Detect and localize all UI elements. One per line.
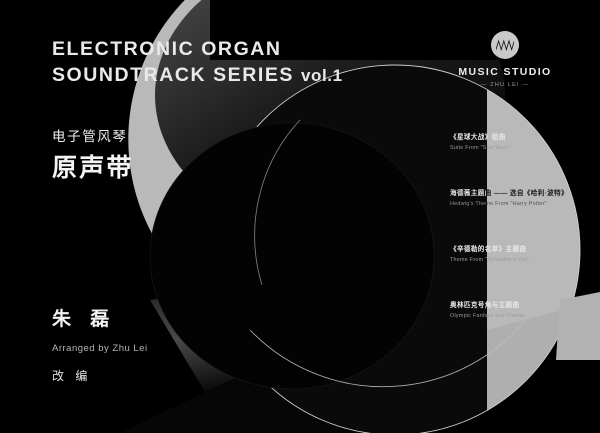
studio-subtitle: — ZHU LEI — [455, 80, 555, 90]
track-title-en: Theme From "Schindler's List" [450, 256, 600, 265]
track-item: 《辛德勒的名单》主题曲 Theme From "Schindler's List… [450, 245, 600, 265]
track-title-cn: 奥林匹克号角与主题曲 [450, 301, 600, 311]
title-line-2-text: SOUNDTRACK SERIES [52, 64, 294, 86]
studio-name: MUSIC STUDIO [455, 66, 555, 79]
track-list: 《星球大战》组曲 Suite From "Star Wars" 海德薇主题曲 —… [450, 133, 600, 321]
waveform-icon [490, 30, 520, 60]
track-title-en: Hedwig's Theme From "Harry Potter" [450, 200, 600, 209]
track-title-cn: 《辛德勒的名单》主题曲 [450, 245, 600, 255]
track-title-en: Suite From "Star Wars" [450, 144, 600, 153]
poster-title: ELECTRONIC ORGAN SOUNDTRACK SERIES vol.1 [52, 36, 343, 89]
track-title-cn: 《星球大战》组曲 [450, 133, 600, 143]
artist-credit-en: Arranged by Zhu Lei [52, 341, 148, 356]
studio-logo: MUSIC STUDIO — ZHU LEI — [455, 30, 555, 90]
artist-name-cn: 朱 磊 [52, 307, 148, 333]
title-line-2: SOUNDTRACK SERIES vol.1 [52, 62, 343, 89]
title-volume: vol.1 [301, 66, 343, 85]
center-black-disc [150, 123, 434, 389]
chinese-headline: 电子管风琴 原声带 [52, 127, 134, 185]
title-line-1: ELECTRONIC ORGAN [52, 36, 343, 62]
chinese-main-title: 原声带 [52, 151, 134, 185]
artist-role-cn: 改 编 [52, 367, 148, 385]
chinese-subtitle: 电子管风琴 [52, 127, 134, 147]
track-item: 《星球大战》组曲 Suite From "Star Wars" [450, 133, 600, 153]
artist-credit: 朱 磊 Arranged by Zhu Lei 改 编 [52, 307, 148, 385]
track-item: 奥林匹克号角与主题曲 Olympic Fanfare and Theme [450, 301, 600, 321]
right-edge-black [556, 360, 600, 433]
track-title-cn: 海德薇主题曲 —— 选自《哈利·波特》 [450, 189, 600, 199]
track-title-en: Olympic Fanfare and Theme [450, 312, 600, 321]
album-poster: ELECTRONIC ORGAN SOUNDTRACK SERIES vol.1… [0, 0, 600, 433]
track-item: 海德薇主题曲 —— 选自《哈利·波特》 Hedwig's Theme From … [450, 189, 600, 209]
